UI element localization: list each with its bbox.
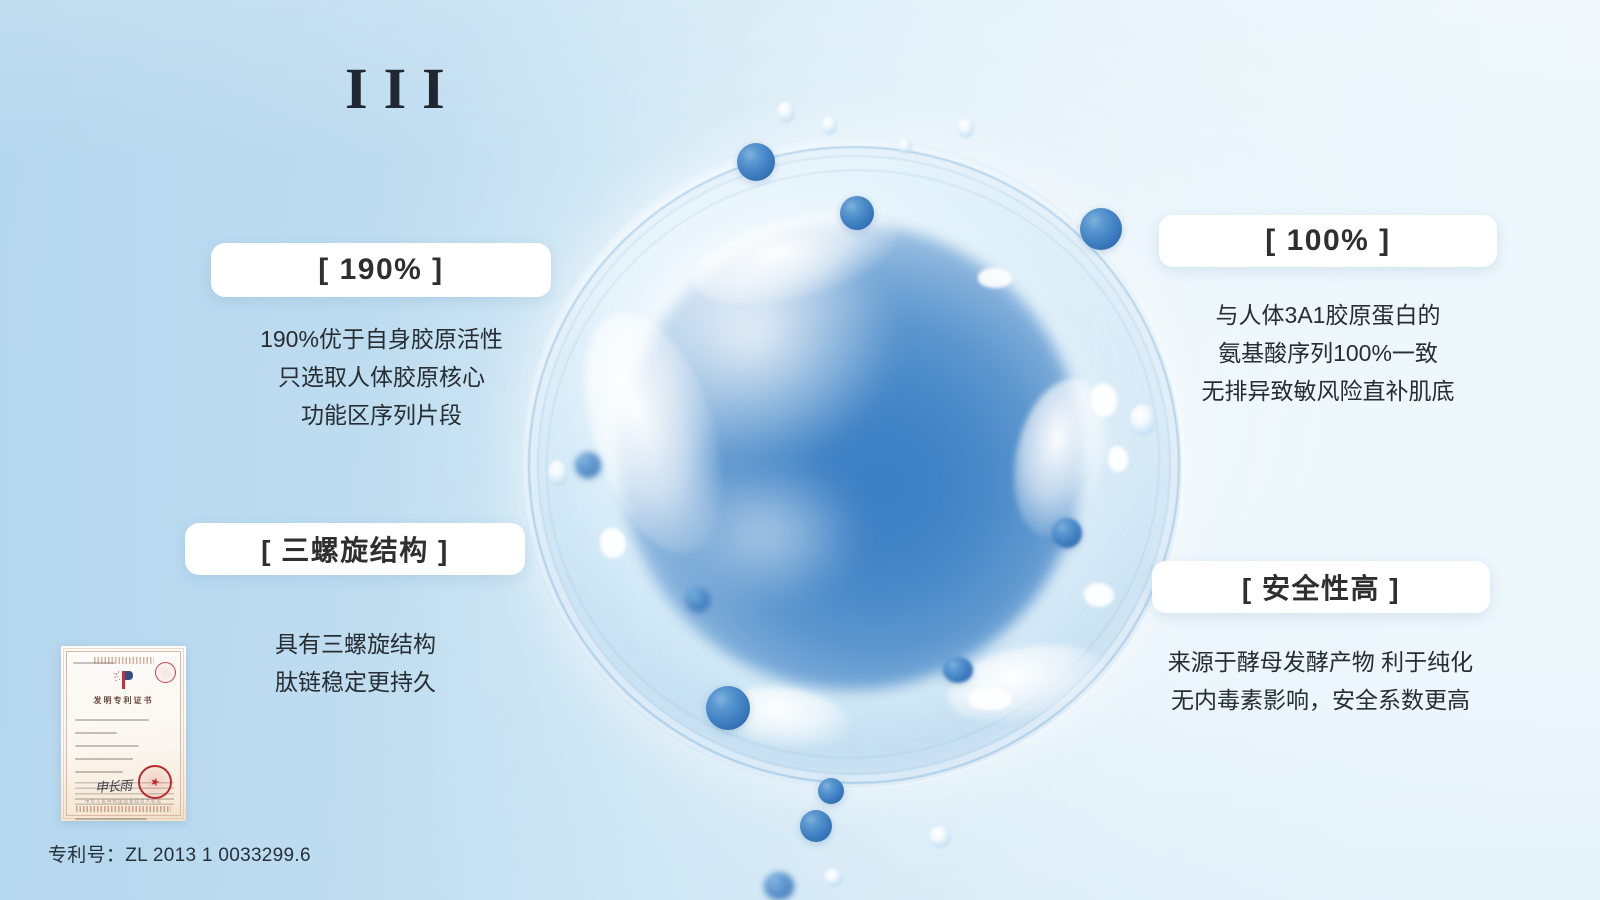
feature-identity-line-1: 与人体3A1胶原蛋白的 xyxy=(1158,296,1498,334)
feature-identity-line-2: 氨基酸序列100%一致 xyxy=(1158,334,1498,372)
badge-triple-helix[interactable]: [ 三螺旋结构 ] xyxy=(185,523,525,575)
certificate-bottom-ornament xyxy=(76,806,171,812)
feature-triple-helix-line-1: 具有三螺旋结构 xyxy=(188,625,523,663)
badge-triple-helix-label: [ 三螺旋结构 ] xyxy=(261,529,449,569)
badge-activity-label: [ 190% ] xyxy=(318,253,443,287)
certificate-sub-note xyxy=(75,818,147,820)
poster-canvas: III [ 190% ] 190%优于自身胶原活性 只选取人体胶原核心 功能区序… xyxy=(0,0,1600,900)
certificate-title: 发明专利证书 xyxy=(61,695,186,706)
badge-activity[interactable]: [ 190% ] xyxy=(211,243,551,297)
certificate-field-2 xyxy=(75,732,117,734)
badge-identity-label: [ 100% ] xyxy=(1265,224,1390,258)
certificate-field-1 xyxy=(75,719,149,721)
feature-identity-line-3: 无排异致敏风险直补肌底 xyxy=(1158,372,1498,410)
certificate-field-3 xyxy=(75,745,139,747)
background-vertical-shade xyxy=(0,0,1600,900)
badge-safety-label: [ 安全性高 ] xyxy=(1242,567,1400,607)
page-title: III xyxy=(345,55,461,122)
feature-triple-helix-text: 具有三螺旋结构 肽链稳定更持久 xyxy=(188,625,523,701)
feature-triple-helix-line-2: 肽链稳定更持久 xyxy=(188,663,523,701)
patent-certificate-image[interactable]: 发明专利证书 申长雨 中华人民共和国国家知识产权局 xyxy=(61,646,186,821)
feature-identity-text: 与人体3A1胶原蛋白的 氨基酸序列100%一致 无排异致敏风险直补肌底 xyxy=(1158,296,1498,410)
certificate-footer: 中华人民共和国国家知识产权局 xyxy=(61,799,186,805)
certificate-header-code xyxy=(73,662,115,664)
certificate-field-5 xyxy=(75,771,123,773)
feature-activity-line-2: 只选取人体胶原核心 xyxy=(214,358,549,396)
certificate-signature: 申长雨 xyxy=(94,775,131,796)
badge-identity[interactable]: [ 100% ] xyxy=(1159,215,1497,267)
certificate-field-4 xyxy=(75,758,133,760)
certificate-top-seal-icon xyxy=(155,662,176,683)
feature-safety-line-1: 来源于酵母发酵产物 利于纯化 xyxy=(1128,643,1513,681)
feature-activity-text: 190%优于自身胶原活性 只选取人体胶原核心 功能区序列片段 xyxy=(214,320,549,434)
feature-safety-text: 来源于酵母发酵产物 利于纯化 无内毒素影响，安全系数更高 xyxy=(1128,643,1513,719)
feature-safety-line-2: 无内毒素影响，安全系数更高 xyxy=(1128,681,1513,719)
feature-activity-line-3: 功能区序列片段 xyxy=(214,396,549,434)
badge-safety[interactable]: [ 安全性高 ] xyxy=(1152,561,1490,613)
feature-activity-line-1: 190%优于自身胶原活性 xyxy=(214,320,549,358)
certificate-official-seal-icon xyxy=(138,765,172,799)
patent-number: 专利号：ZL 2013 1 0033299.6 xyxy=(48,840,311,867)
patent-office-emblem-icon xyxy=(112,668,136,692)
